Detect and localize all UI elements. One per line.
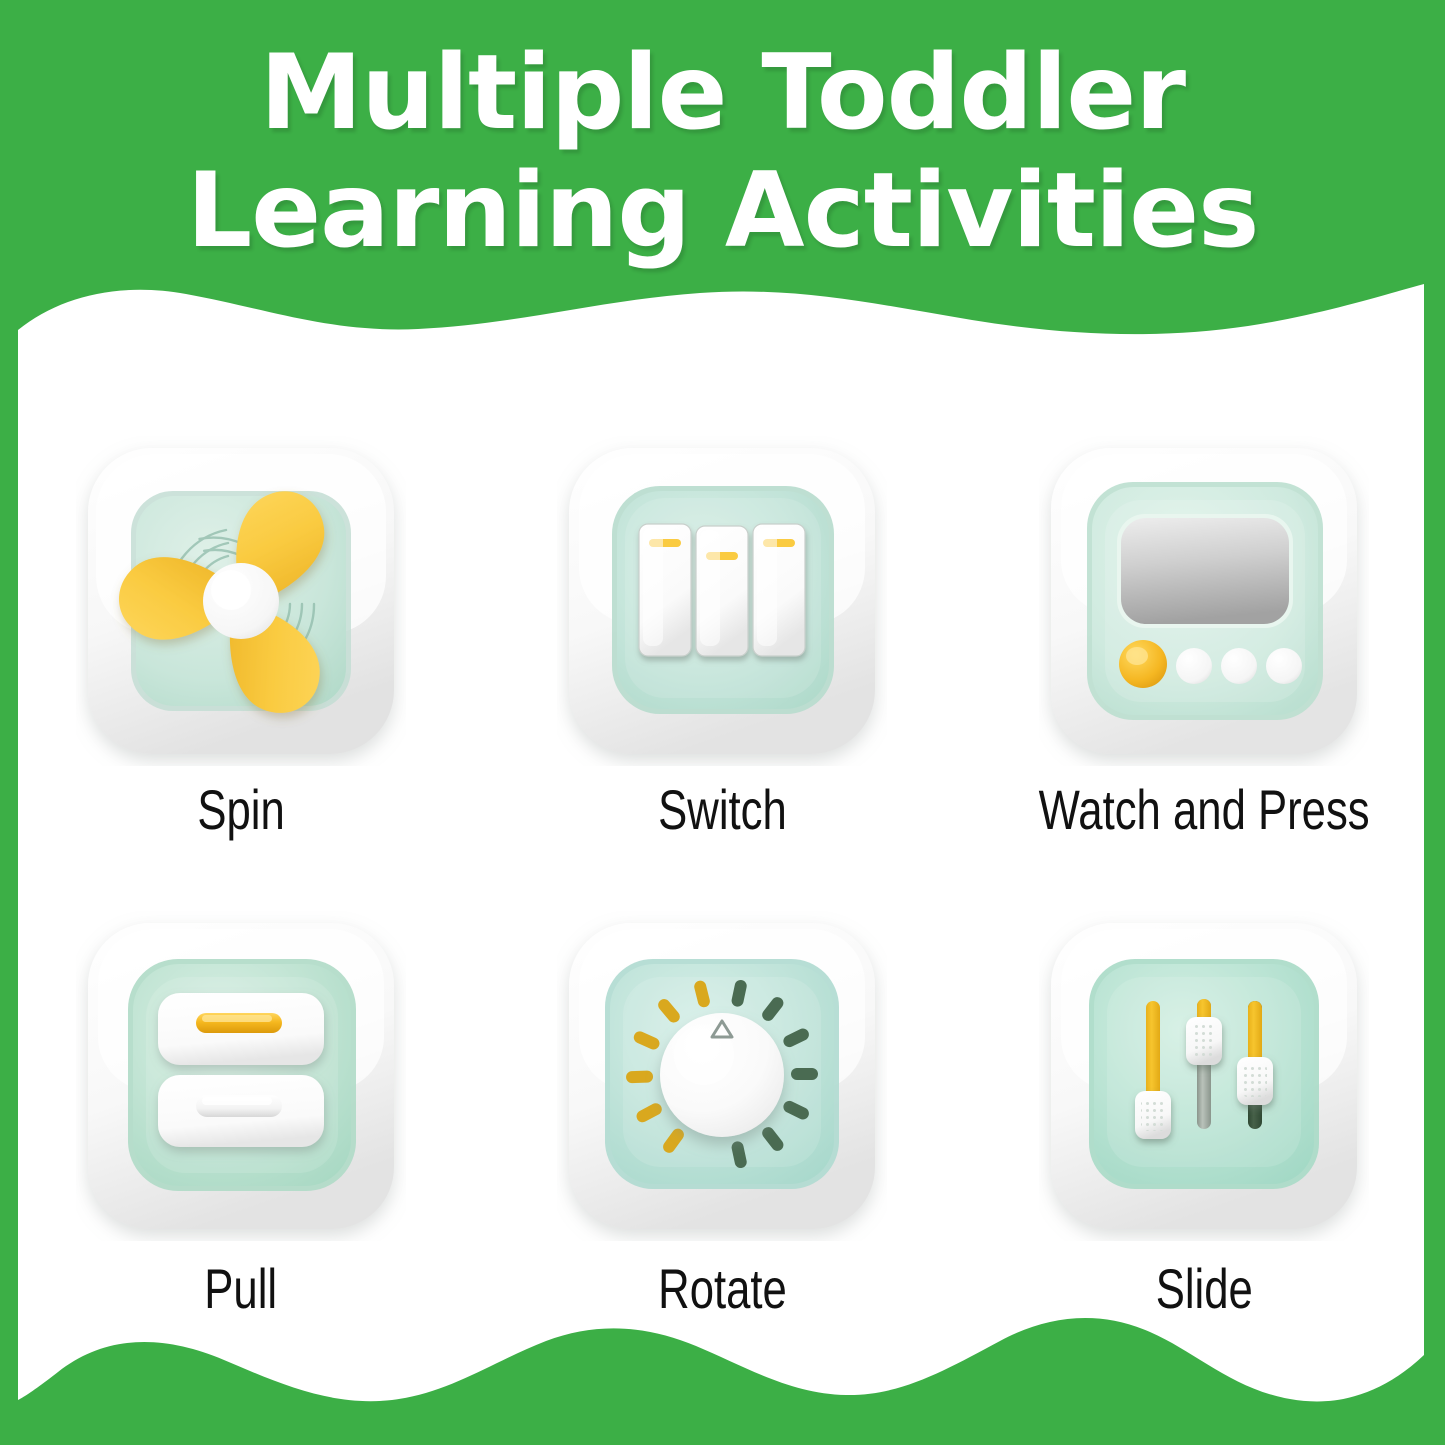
tile-slide[interactable] <box>1034 903 1374 1248</box>
feature-label-pull: Pull <box>204 1258 277 1320</box>
title-line-1: Multiple Toddler <box>0 34 1445 152</box>
tv-screen-icon <box>1039 436 1369 766</box>
feature-label-watch-and-press: Watch and Press <box>1039 779 1370 841</box>
display-screen <box>1121 518 1289 624</box>
feature-cell-slide[interactable]: Slide <box>963 871 1445 1320</box>
dial-knob-icon <box>557 911 887 1241</box>
tile-spin[interactable] <box>71 428 411 773</box>
drawer-handle-icon <box>76 911 406 1241</box>
feature-grid: Spin <box>0 428 1445 1320</box>
feature-label-slide: Slide <box>1156 1258 1253 1320</box>
tile-pull[interactable] <box>71 903 411 1248</box>
tile-watch-and-press[interactable] <box>1034 428 1374 773</box>
button-3 <box>1221 648 1257 684</box>
feature-label-switch: Switch <box>658 779 787 841</box>
page-title: Multiple Toddler Learning Activities <box>0 34 1445 270</box>
feature-cell-switch[interactable]: Switch <box>482 428 964 841</box>
rocker-switch-icon <box>557 436 887 766</box>
power-button <box>1119 640 1167 688</box>
tile-switch[interactable] <box>552 428 892 773</box>
feature-label-rotate: Rotate <box>658 1258 787 1320</box>
infographic-root: Multiple Toddler Learning Activities <box>0 0 1445 1445</box>
button-4 <box>1266 648 1302 684</box>
tile-rotate[interactable] <box>552 903 892 1248</box>
title-line-2: Learning Activities <box>0 152 1445 270</box>
button-2 <box>1176 648 1212 684</box>
feature-label-spin: Spin <box>197 779 284 841</box>
slider-fader-icon <box>1039 911 1369 1241</box>
feature-cell-pull[interactable]: Pull <box>0 871 482 1320</box>
feature-cell-spin[interactable]: Spin <box>0 428 482 841</box>
feature-cell-rotate[interactable]: Rotate <box>482 871 964 1320</box>
feature-cell-watch-and-press[interactable]: Watch and Press <box>963 428 1445 841</box>
fan-icon <box>76 436 406 766</box>
